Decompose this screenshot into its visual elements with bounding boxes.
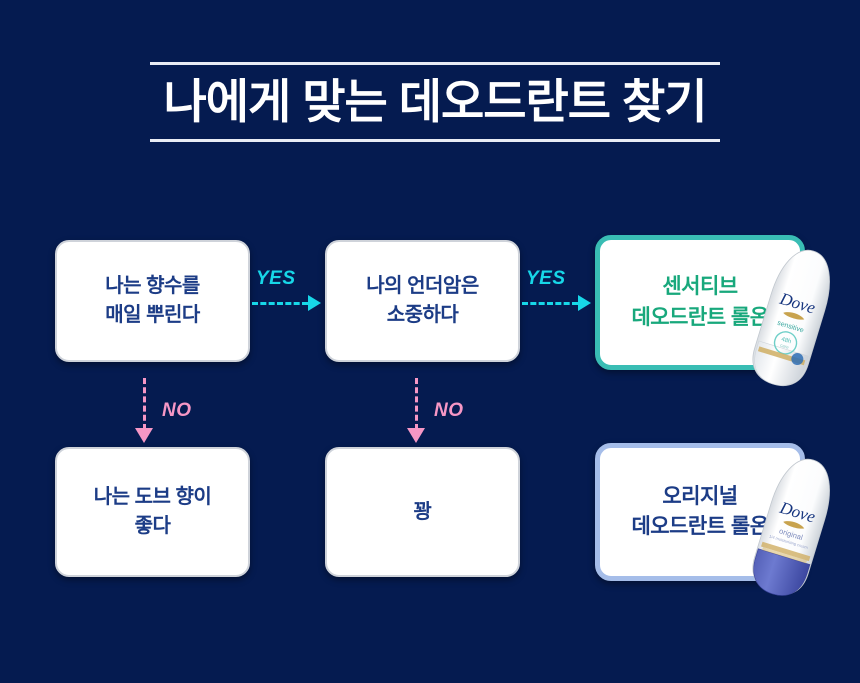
result-box-original-line-2: 데오드란트 롤온 — [631, 512, 768, 542]
question-box-1-line-2: 매일 뿌린다 — [105, 301, 200, 330]
question-box-2-label: 나의 언더암은 소중하다 — [366, 272, 478, 330]
dashed-line-icon — [143, 378, 146, 430]
question-box-4-label: 꽝 — [414, 498, 432, 527]
result-box-sensitive-line-2: 데오드란트 롤온 — [631, 303, 768, 333]
question-box-2-line-2: 소중하다 — [366, 301, 478, 330]
connector-no-2: NO — [407, 378, 477, 458]
arrow-right-icon — [578, 295, 591, 311]
connector-no-2-label: NO — [434, 400, 464, 422]
connector-no-1-label: NO — [162, 400, 192, 422]
dashed-line-icon — [522, 302, 578, 305]
dashed-line-icon — [252, 302, 308, 305]
result-box-original-line-1: 오리지널 — [631, 482, 768, 512]
question-box-2-line-1: 나의 언더암은 — [366, 272, 478, 301]
question-box-2[interactable]: 나의 언더암은 소중하다 — [325, 240, 520, 362]
question-box-1[interactable]: 나는 향수를 매일 뿌린다 — [55, 240, 250, 362]
question-box-4[interactable]: 꽝 — [325, 447, 520, 577]
connector-yes-2-label: YES — [526, 268, 566, 290]
question-box-3-line-2: 좋다 — [94, 512, 212, 541]
result-box-original-label: 오리지널 데오드란트 롤온 — [631, 482, 768, 543]
arrow-right-icon — [308, 295, 321, 311]
title-rule-bottom — [150, 139, 720, 142]
connector-yes-1-label: YES — [256, 268, 296, 290]
dashed-line-icon — [415, 378, 418, 430]
page-title: 나에게 맞는 데오드란트 찾기 — [150, 65, 720, 139]
question-box-3-line-1: 나는 도브 향이 — [94, 483, 212, 512]
question-box-3-label: 나는 도브 향이 좋다 — [94, 483, 212, 541]
infographic-canvas: 나에게 맞는 데오드란트 찾기 나는 향수를 매일 뿌린다 나의 언더암은 소중… — [0, 0, 860, 683]
arrow-down-icon — [407, 428, 425, 443]
question-box-4-line-1: 꽝 — [414, 498, 432, 527]
question-box-3[interactable]: 나는 도브 향이 좋다 — [55, 447, 250, 577]
result-box-sensitive-label: 센서티브 데오드란트 롤온 — [631, 272, 768, 333]
arrow-down-icon — [135, 428, 153, 443]
result-box-sensitive-line-1: 센서티브 — [631, 272, 768, 302]
connector-yes-2: YES — [522, 268, 600, 324]
question-box-1-label: 나는 향수를 매일 뿌린다 — [105, 272, 200, 330]
question-box-1-line-1: 나는 향수를 — [105, 272, 200, 301]
connector-no-1: NO — [135, 378, 205, 458]
connector-yes-1: YES — [252, 268, 330, 324]
title-block: 나에게 맞는 데오드란트 찾기 — [150, 62, 720, 142]
